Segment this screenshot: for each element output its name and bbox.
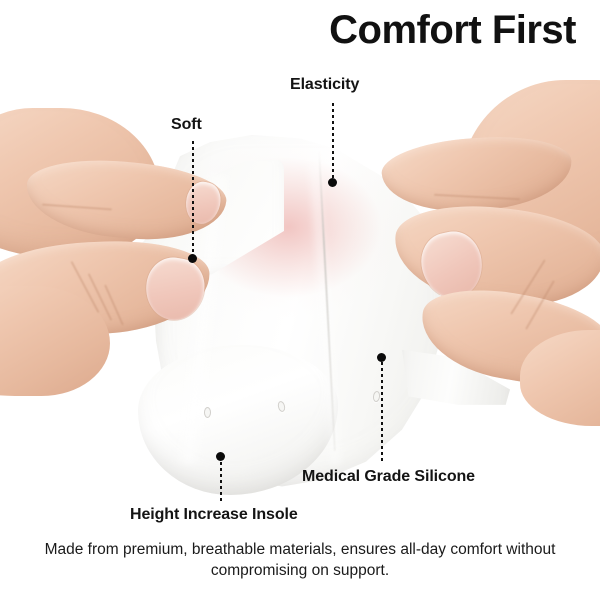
- callout-leader-height-increase-insole: [220, 462, 222, 502]
- callout-leader-elasticity: [332, 103, 334, 181]
- right-hand: [400, 80, 600, 410]
- callout-leader-medical-grade-silicone: [381, 362, 383, 462]
- product-photo: [0, 60, 600, 530]
- left-hand: [0, 90, 250, 380]
- product-feature-poster: Comfort First: [0, 0, 600, 600]
- callout-dot-soft: [188, 254, 197, 263]
- callout-label-elasticity: Elasticity: [290, 76, 359, 94]
- callout-dot-elasticity: [328, 178, 337, 187]
- page-title: Comfort First: [329, 8, 576, 53]
- callout-label-medical-grade-silicone: Medical Grade Silicone: [302, 468, 475, 486]
- callout-leader-soft: [192, 141, 194, 257]
- ventilation-hole: [204, 407, 211, 418]
- callout-label-soft: Soft: [171, 116, 202, 134]
- callout-dot-height-increase-insole: [216, 452, 225, 461]
- callout-dot-medical-grade-silicone: [377, 353, 386, 362]
- callout-label-height-increase-insole: Height Increase Insole: [130, 506, 298, 524]
- caption-text: Made from premium, breathable materials,…: [0, 540, 600, 582]
